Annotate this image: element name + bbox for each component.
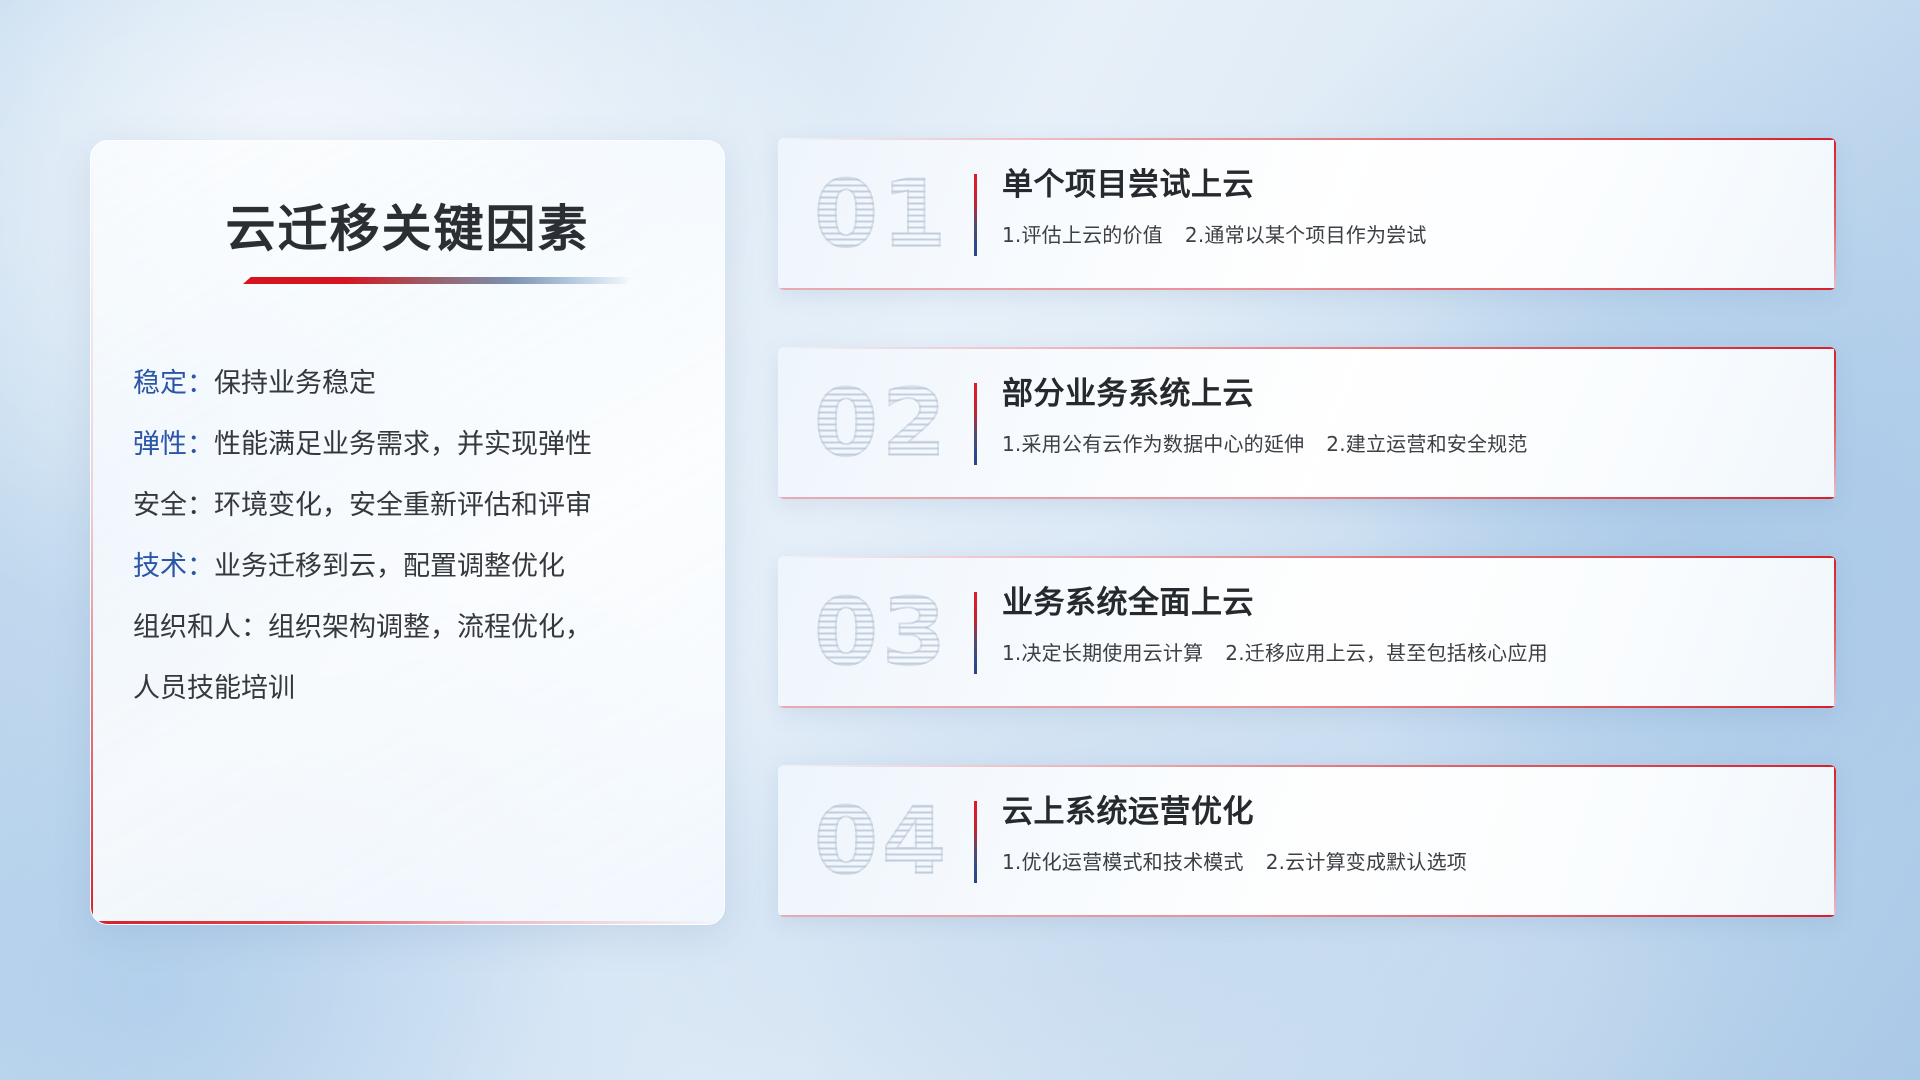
stage-text-block: 单个项目尝试上云1.评估上云的价值2.通常以某个项目作为尝试 xyxy=(1002,166,1808,248)
stage-card-underline xyxy=(778,497,1836,499)
key-factor-text: 保持业务稳定 xyxy=(214,368,376,399)
stage-divider-bar xyxy=(974,801,977,883)
stage-point-1: 1.决定长期使用云计算 xyxy=(1002,641,1203,665)
stage-number: 02 xyxy=(814,370,950,477)
stage-card-underline xyxy=(778,915,1836,917)
stage-point-1: 1.优化运营模式和技术模式 xyxy=(1002,850,1244,874)
stage-point-1: 1.采用公有云作为数据中心的延伸 xyxy=(1002,432,1304,456)
stage-number: 01 xyxy=(814,161,950,268)
stage-card[interactable]: 02部分业务系统上云1.采用公有云作为数据中心的延伸2.建立运营和安全规范 xyxy=(778,347,1836,499)
stage-subtitle: 1.评估上云的价值2.通常以某个项目作为尝试 xyxy=(1002,219,1808,248)
key-factor-label: 安全： xyxy=(133,490,214,521)
key-factors-panel: 云迁移关键因素 稳定：保持业务稳定弹性：性能满足业务需求，并实现弹性安全：环境变… xyxy=(90,140,725,925)
stage-card-list: 01单个项目尝试上云1.评估上云的价值2.通常以某个项目作为尝试02部分业务系统… xyxy=(778,138,1836,974)
stage-title: 业务系统全面上云 xyxy=(1002,584,1808,623)
key-factor-text: 组织架构调整，流程优化， xyxy=(268,612,592,643)
key-factor-item: 技术：业务迁移到云，配置调整优化 xyxy=(133,536,688,597)
stage-subtitle: 1.优化运营模式和技术模式2.云计算变成默认选项 xyxy=(1002,846,1808,875)
stage-number: 04 xyxy=(814,788,950,895)
key-factor-text: 业务迁移到云，配置调整优化 xyxy=(214,551,565,582)
stage-subtitle: 1.采用公有云作为数据中心的延伸2.建立运营和安全规范 xyxy=(1002,428,1808,457)
stage-title: 单个项目尝试上云 xyxy=(1002,166,1808,205)
key-factor-label: 弹性： xyxy=(133,429,214,460)
stage-divider-bar xyxy=(974,592,977,674)
stage-number: 03 xyxy=(814,579,950,686)
stage-subtitle: 1.决定长期使用云计算2.迁移应用上云，甚至包括核心应用 xyxy=(1002,637,1808,666)
stage-point-2: 2.迁移应用上云，甚至包括核心应用 xyxy=(1225,641,1547,665)
key-factor-item: 组织和人：组织架构调整，流程优化， xyxy=(133,597,688,658)
stage-card[interactable]: 03业务系统全面上云1.决定长期使用云计算2.迁移应用上云，甚至包括核心应用 xyxy=(778,556,1836,708)
title-underline-gradient xyxy=(243,277,633,284)
key-factor-text: 人员技能培训 xyxy=(133,673,295,704)
key-factor-text: 性能满足业务需求，并实现弹性 xyxy=(214,429,592,460)
key-factor-label: 技术： xyxy=(133,551,214,582)
stage-card-underline xyxy=(778,706,1836,708)
stage-title: 部分业务系统上云 xyxy=(1002,375,1808,414)
key-factor-text: 环境变化，安全重新评估和评审 xyxy=(214,490,592,521)
key-factor-item: 弹性：性能满足业务需求，并实现弹性 xyxy=(133,414,688,475)
stage-card[interactable]: 04云上系统运营优化1.优化运营模式和技术模式2.云计算变成默认选项 xyxy=(778,765,1836,917)
stage-divider-bar xyxy=(974,174,977,256)
slide-canvas: 云迁移关键因素 稳定：保持业务稳定弹性：性能满足业务需求，并实现弹性安全：环境变… xyxy=(0,0,1920,1080)
key-factors-list: 稳定：保持业务稳定弹性：性能满足业务需求，并实现弹性安全：环境变化，安全重新评估… xyxy=(133,353,688,719)
stage-card-underline xyxy=(778,288,1836,290)
stage-divider-bar xyxy=(974,383,977,465)
stage-text-block: 部分业务系统上云1.采用公有云作为数据中心的延伸2.建立运营和安全规范 xyxy=(1002,375,1808,457)
stage-card[interactable]: 01单个项目尝试上云1.评估上云的价值2.通常以某个项目作为尝试 xyxy=(778,138,1836,290)
stage-point-1: 1.评估上云的价值 xyxy=(1002,223,1163,247)
stage-text-block: 云上系统运营优化1.优化运营模式和技术模式2.云计算变成默认选项 xyxy=(1002,793,1808,875)
key-factor-item: 安全：环境变化，安全重新评估和评审 xyxy=(133,475,688,536)
stage-title: 云上系统运营优化 xyxy=(1002,793,1808,832)
stage-point-2: 2.建立运营和安全规范 xyxy=(1326,432,1527,456)
page-title: 云迁移关键因素 xyxy=(91,189,724,261)
stage-point-2: 2.云计算变成默认选项 xyxy=(1266,850,1467,874)
key-factor-item: 人员技能培训 xyxy=(133,658,688,719)
key-factor-item: 稳定：保持业务稳定 xyxy=(133,353,688,414)
key-factor-label: 稳定： xyxy=(133,368,214,399)
stage-point-2: 2.通常以某个项目作为尝试 xyxy=(1185,223,1427,247)
key-factor-label: 组织和人： xyxy=(133,612,268,643)
stage-text-block: 业务系统全面上云1.决定长期使用云计算2.迁移应用上云，甚至包括核心应用 xyxy=(1002,584,1808,666)
